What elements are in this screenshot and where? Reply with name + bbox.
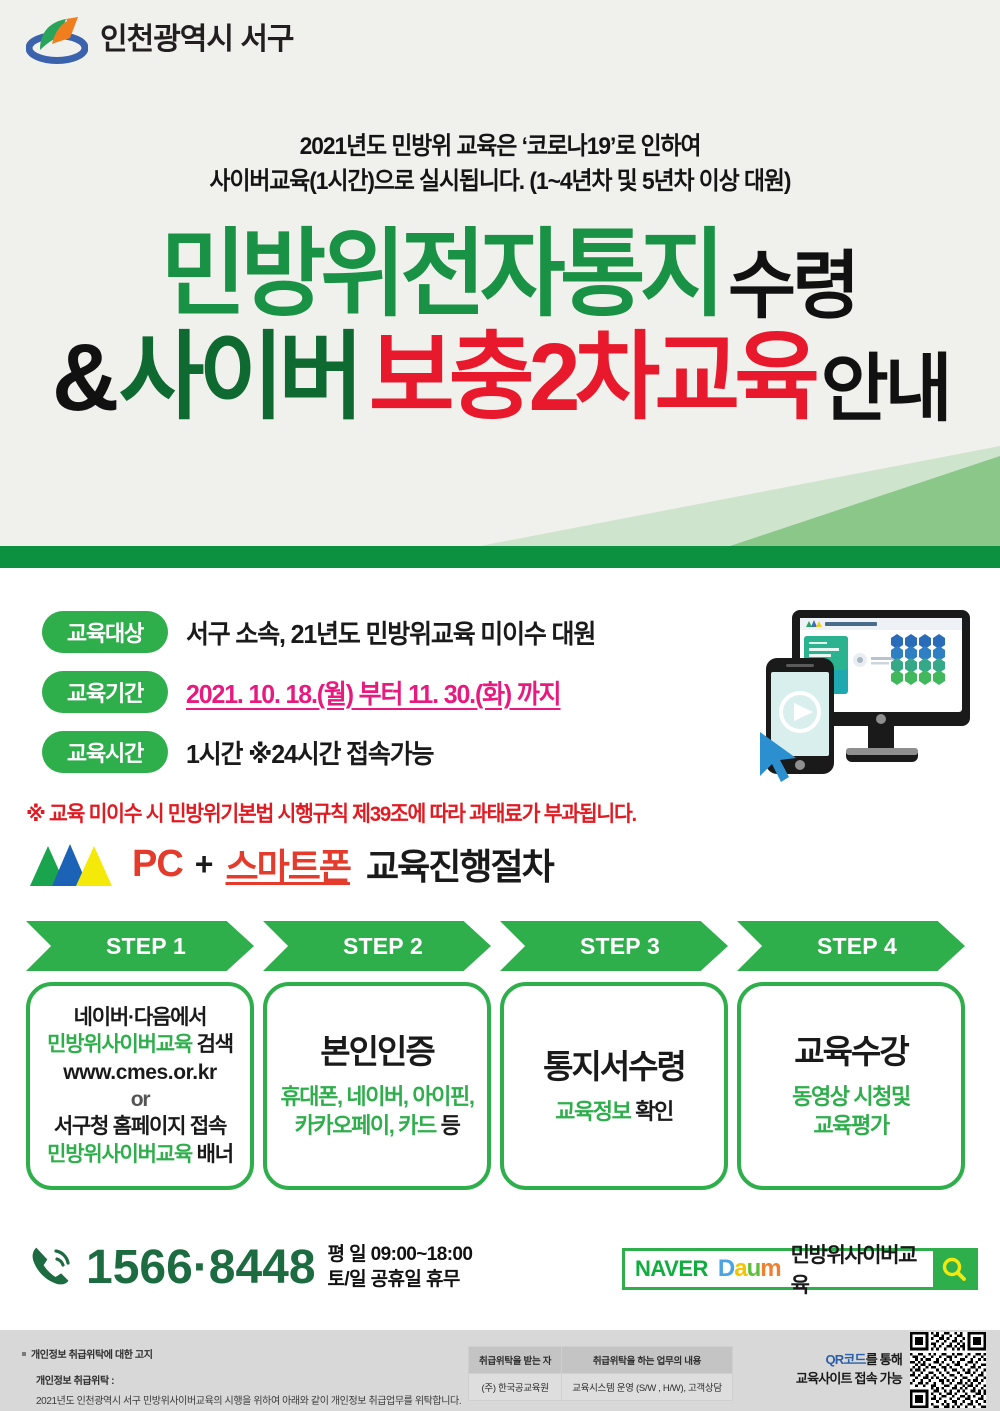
info-row-duration: 교육시간 1시간 ※24시간 접속가능	[42, 727, 612, 777]
steps-container: STEP 1 네이버·다음에서 민방위사이버교육 검색 www.cmes.or.…	[26, 921, 974, 1190]
step-box-3: 통지서수령 교육정보 확인	[500, 982, 728, 1190]
step2-line-2: 휴대폰, 네이버, 아이핀,	[280, 1083, 473, 1112]
hours-weekend: 토/일 공휴일 휴무	[328, 1268, 473, 1293]
business-hours: 평 일 09:00~18:00 토/일 공휴일 휴무	[328, 1243, 473, 1292]
step1-line-5: 서구청 홈페이지 접속	[54, 1113, 226, 1140]
title-part-annae: 안내	[821, 353, 949, 426]
step3-line-2: 교육정보 확인	[555, 1098, 673, 1127]
header-section: 인천광역시 서구 2021년도 민방위 교육은 ‘코로나19’로 인하여 사이버…	[0, 0, 1000, 568]
step-column-3: STEP 3 통지서수령 교육정보 확인	[500, 921, 728, 1190]
info-value-duration: 1시간 ※24시간 접속가능	[186, 734, 433, 771]
title-part-suryeong: 수령	[728, 250, 856, 323]
process-plus-symbol: +	[195, 846, 214, 883]
title-part-cyber: 사이버	[118, 331, 358, 425]
penalty-notice: ※ 교육 미이수 시 민방위기본법 시행규칙 제39조에 따라 과태료가 부과됩…	[26, 797, 636, 828]
phone-call-icon	[30, 1245, 76, 1291]
info-badge-period: 교육기간	[42, 671, 168, 713]
qr-caption-line-1: QR코드를 통해	[796, 1351, 902, 1370]
step-column-1: STEP 1 네이버·다음에서 민방위사이버교육 검색 www.cmes.or.…	[26, 921, 254, 1190]
footer-section: 개인정보 취급위탁에 대한 고지 개인정보 취급위탁 : 2021년도 인천광역…	[0, 1330, 1000, 1411]
hours-weekday: 평 일 09:00~18:00	[328, 1243, 473, 1268]
title-line-1: 민방위전자통지수령	[8, 228, 1000, 323]
subtitle-line-2: 사이버교육(1시간)으로 실시됩니다. (1~4년차 및 5년차 이상 대원)	[35, 165, 965, 200]
process-smartphone-label: 스마트폰	[225, 838, 349, 890]
step-box-1: 네이버·다음에서 민방위사이버교육 검색 www.cmes.or.kr or 서…	[26, 982, 254, 1190]
search-keyword: 민방위사이버교육	[791, 1239, 923, 1299]
search-bar[interactable]: NAVER Daum 민방위사이버교육	[622, 1248, 978, 1290]
step-arrow-4[interactable]: STEP 4	[737, 921, 965, 971]
three-triangles-icon	[26, 840, 122, 888]
title-line-2: &사이버보충2차교육안내	[0, 331, 1000, 426]
qr-caption-rest: 를 통해	[866, 1352, 902, 1367]
info-row-period: 교육기간 2021. 10. 18.(월) 부터 11. 30.(화) 까지	[42, 667, 612, 717]
privacy-body: 2021년도 인천광역시 서구 민방위사이버교육의 시행을 위하여 아래와 같이…	[36, 1392, 461, 1407]
search-button[interactable]	[933, 1251, 975, 1287]
title-part-ampersand: &	[52, 331, 113, 425]
step-arrow-1[interactable]: STEP 1	[26, 921, 254, 971]
organization-name: 인천광역시 서구	[100, 25, 294, 55]
phone-number[interactable]: 1566·8448	[86, 1244, 316, 1292]
header-green-band	[0, 546, 1000, 568]
info-row-target: 교육대상 서구 소속, 21년도 민방위교육 미이수 대원	[42, 607, 612, 657]
organization-logo: 인천광역시 서구	[26, 14, 294, 66]
qr-caption-highlight: QR코드	[825, 1352, 865, 1367]
step-box-4: 교육수강 동영상 시청및 교육평가	[737, 982, 965, 1190]
poster-root: 인천광역시 서구 2021년도 민방위 교육은 ‘코로나19’로 인하여 사이버…	[0, 0, 1000, 1411]
qr-block: QR코드를 통해 교육사이트 접속 가능	[796, 1332, 986, 1408]
step-box-2: 본인인증 휴대폰, 네이버, 아이핀, 카카오페이, 카드 등	[263, 982, 491, 1190]
privacy-heading-row: 개인정보 취급위탁에 대한 고지	[22, 1346, 461, 1361]
table-cell-recipient: (주) 한국공교육원	[469, 1374, 562, 1401]
bullet-icon	[22, 1352, 26, 1356]
step-column-4: STEP 4 교육수강 동영상 시청및 교육평가	[737, 921, 965, 1190]
naver-logo: NAVER	[635, 1256, 708, 1282]
pc-and-smartphone-illustration-icon	[756, 596, 988, 786]
qr-code-image[interactable]	[910, 1332, 986, 1408]
step-arrow-3[interactable]: STEP 3	[500, 921, 728, 971]
info-badge-duration: 교육시간	[42, 731, 168, 773]
process-heading: PC + 스마트폰 교육진행절차	[26, 838, 553, 890]
daum-logo: Daum	[718, 1255, 781, 1283]
subtitle-line-1: 2021년도 민방위 교육은 ‘코로나19’로 인하여	[35, 130, 965, 165]
process-pc-label: PC	[132, 843, 183, 886]
qr-caption: QR코드를 통해 교육사이트 접속 가능	[796, 1351, 902, 1389]
process-rest-label: 교육진행절차	[366, 838, 553, 890]
step4-line-3: 교육평가	[813, 1112, 888, 1141]
info-value-period: 2021. 10. 18.(월) 부터 11. 30.(화) 까지	[186, 674, 561, 711]
qr-caption-line-2: 교육사이트 접속 가능	[796, 1370, 902, 1389]
header-subtitle: 2021년도 민방위 교육은 ‘코로나19’로 인하여 사이버교육(1시간)으로…	[35, 130, 965, 200]
incheon-seogu-emblem-icon	[26, 14, 88, 66]
step1-line-1: 네이버·다음에서	[74, 1004, 207, 1031]
info-value-target: 서구 소속, 21년도 민방위교육 미이수 대원	[186, 614, 595, 651]
delegation-table: 취급위탁을 받는 자 취급위탁을 하는 업무의 내용 (주) 한국공교육원 교육…	[468, 1346, 733, 1401]
privacy-subheading: 개인정보 취급위탁 :	[36, 1372, 461, 1387]
decorative-triangle-mid	[730, 456, 1000, 546]
table-header-scope: 취급위탁을 하는 업무의 내용	[562, 1347, 733, 1374]
privacy-heading: 개인정보 취급위탁에 대한 고지	[31, 1350, 153, 1361]
table-header-recipient: 취급위탁을 받는 자	[469, 1347, 562, 1374]
title-part-bochung: 보충2차교육	[368, 331, 813, 425]
step1-line-6: 민방위사이버교육 배너	[47, 1141, 233, 1168]
search-magnifier-icon	[941, 1256, 967, 1282]
title-part-minbangwi: 민방위전자통지	[160, 228, 719, 322]
info-rows: 교육대상 서구 소속, 21년도 민방위교육 미이수 대원 교육기간 2021.…	[42, 607, 612, 787]
step1-line-4: or	[131, 1086, 150, 1113]
step-column-2: STEP 2 본인인증 휴대폰, 네이버, 아이핀, 카카오페이, 카드 등	[263, 921, 491, 1190]
step1-line-3: www.cmes.or.kr	[63, 1059, 217, 1086]
table-cell-scope: 교육시스템 운영 (S/W , H/W), 고객상담	[562, 1374, 733, 1401]
contact-row: 1566·8448 평 일 09:00~18:00 토/일 공휴일 휴무	[30, 1243, 472, 1292]
step-arrow-2[interactable]: STEP 2	[263, 921, 491, 971]
info-badge-target: 교육대상	[42, 611, 168, 653]
step4-line-2: 동영상 시청및	[792, 1083, 910, 1112]
step1-line-2: 민방위사이버교육 검색	[47, 1031, 233, 1058]
step3-title: 통지서수령	[543, 1046, 685, 1089]
search-inner[interactable]: NAVER Daum 민방위사이버교육	[625, 1251, 933, 1287]
privacy-notice-block: 개인정보 취급위탁에 대한 고지 개인정보 취급위탁 : 2021년도 인천광역…	[22, 1346, 461, 1407]
step4-title: 교육수강	[794, 1031, 907, 1074]
table-row: (주) 한국공교육원 교육시스템 운영 (S/W , H/W), 고객상담	[469, 1374, 733, 1401]
step2-line-3: 카카오페이, 카드 등	[295, 1112, 460, 1141]
step2-title: 본인인증	[320, 1031, 433, 1074]
poster-title: 민방위전자통지수령 &사이버보충2차교육안내	[0, 228, 1000, 425]
table-header-row: 취급위탁을 받는 자 취급위탁을 하는 업무의 내용	[469, 1347, 733, 1374]
